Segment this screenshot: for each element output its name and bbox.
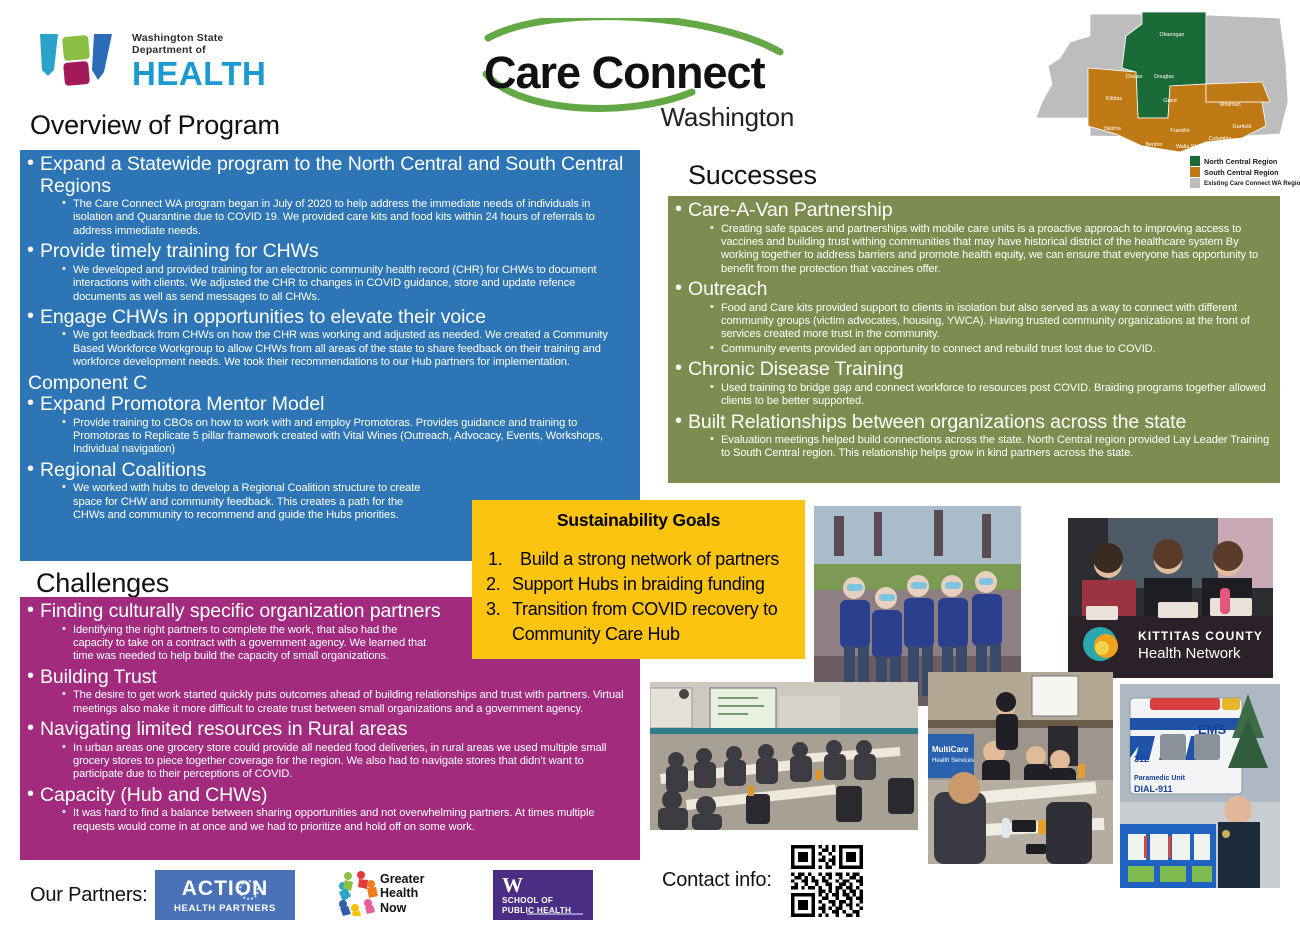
svg-text:Okanogan: Okanogan <box>1160 32 1185 38</box>
successes-item-1-sublist: Food and Care kits provided support to c… <box>688 302 1272 357</box>
wa-doh-logo: Washington State Department of HEALTH <box>36 30 286 92</box>
washington-state-region-map: Okanogan Chelan Douglas Grant Kittitas Y… <box>1030 6 1296 190</box>
greater-health-now-logo: GreaterHealthNow <box>335 868 445 920</box>
uw-logo-rule <box>527 913 583 915</box>
challenges-item-0-sub-0: Identifying the right partners to comple… <box>62 624 435 664</box>
overview-list: Expand a Statewide program to the North … <box>24 154 630 523</box>
svg-text:Garfield: Garfield <box>1233 124 1252 130</box>
svg-text:Health Services: Health Services <box>932 758 974 764</box>
svg-text:Chelan: Chelan <box>1125 74 1142 80</box>
svg-text:Franklin: Franklin <box>1170 128 1189 134</box>
legend-item-south-central: South Central Region <box>1190 167 1300 177</box>
action-logo-bottom: HEALTH PARTNERS <box>155 903 295 914</box>
successes-item-1-sub-0: Food and Care kits provided support to c… <box>710 302 1272 342</box>
photo-classroom-training <box>650 682 918 830</box>
successes-item-2-sub-0: Used training to bridge gap and connect … <box>710 382 1272 409</box>
successes-item-3-sub-0: Evaluation meetings helped build connect… <box>710 434 1272 461</box>
photo-classroom-training-image <box>650 682 918 830</box>
successes-item-1-title: Outreach <box>688 278 767 300</box>
challenges-item-1: Building Trust The desire to get work st… <box>24 667 630 716</box>
overview-item-0-title: Expand a Statewide program to the North … <box>40 153 623 197</box>
legend-item-existing-regions: Existing Care Connect WA Regions <box>1190 178 1300 188</box>
poster-canvas: Washington State Department of HEALTH Ca… <box>0 0 1300 932</box>
overview-item-0: Expand a Statewide program to the North … <box>24 154 630 238</box>
successes-item-2-sublist: Used training to bridge gap and connect … <box>688 382 1272 409</box>
successes-item-0-title: Care-A-Van Partnership <box>688 199 892 221</box>
svg-text:Benton: Benton <box>1145 142 1162 148</box>
svg-text:Columbia: Columbia <box>1209 136 1232 142</box>
uw-w-mark: W <box>502 873 523 898</box>
page-title-challenges: Challenges <box>36 568 169 599</box>
our-partners-label: Our Partners: <box>30 884 147 907</box>
challenges-item-2-sub-0: In urban areas one grocery store could p… <box>62 742 630 782</box>
action-logo-top: ACTION <box>155 877 295 901</box>
legend-label-north-central: North Central Region <box>1204 157 1277 166</box>
sustainability-goal-1: Build a strong network of partners <box>486 547 795 572</box>
doh-shield-icon <box>36 30 124 90</box>
photo-ems-outreach-image: EMS 312 Paramedic Unit DIAL-911 <box>1120 684 1280 888</box>
overview-item-1: Provide timely training for CHWs We deve… <box>24 241 630 304</box>
care-connect-subtitle: Washington <box>661 102 794 133</box>
successes-item-2-title: Chronic Disease Training <box>688 358 903 380</box>
map-graphic: Okanogan Chelan Douglas Grant Kittitas Y… <box>1030 6 1296 156</box>
sustainability-goals-title: Sustainability Goals <box>482 510 795 531</box>
overview-item-4-sub-0: Provide training to CBOs on how to work … <box>62 417 630 457</box>
challenges-item-2: Navigating limited resources in Rural ar… <box>24 719 630 782</box>
contact-info-label: Contact info: <box>662 869 772 892</box>
legend-label-existing-regions: Existing Care Connect WA Regions <box>1204 180 1300 187</box>
challenges-item-2-sublist: In urban areas one grocery store could p… <box>40 742 630 782</box>
photo-small-group-meeting: MultiCare Health Services <box>928 672 1113 864</box>
photo-ems-outreach: EMS 312 Paramedic Unit DIAL-911 <box>1120 684 1280 888</box>
overview-item-5-title: Regional Coalitions <box>40 459 206 481</box>
overview-item-2: Engage CHWs in opportunities to elevate … <box>24 307 630 370</box>
svg-text:DIAL-911: DIAL-911 <box>1134 784 1173 794</box>
uw-school-of-public-health-logo: W SCHOOL OFPUBLIC HEALTH <box>493 870 593 920</box>
legend-swatch-south-central <box>1190 167 1200 177</box>
overview-item-1-sublist: We developed and provided training for a… <box>40 264 630 304</box>
overview-item-1-title: Provide timely training for CHWs <box>40 240 319 262</box>
challenges-item-1-sublist: The desire to get work started quickly p… <box>40 689 630 716</box>
overview-item-4-title: Expand Promotora Mentor Model <box>40 393 324 415</box>
page-title-successes: Successes <box>688 160 817 191</box>
sustainability-goals-box: Sustainability Goals Build a strong netw… <box>472 500 805 659</box>
doh-logo-line1: Washington State Department of <box>132 32 286 56</box>
overview-item-4-sublist: Provide training to CBOs on how to work … <box>40 417 630 457</box>
successes-item-0-sub-0: Creating safe spaces and partnerships wi… <box>710 223 1272 277</box>
greater-health-now-people-icon <box>335 870 379 916</box>
successes-item-1: Outreach Food and Care kits provided sup… <box>672 279 1272 356</box>
action-logo-target-icon <box>239 880 259 900</box>
greater-health-now-text: GreaterHealthNow <box>380 872 424 915</box>
challenges-item-3: Capacity (Hub and CHWs) It was hard to f… <box>24 785 630 834</box>
overview-item-1-sub-0: We developed and provided training for a… <box>62 264 630 304</box>
overview-item-2-sub-0: We got feedback from CHWs on how the CHR… <box>62 329 630 369</box>
overview-item-5-sub-0: We worked with hubs to develop a Regiona… <box>62 482 430 522</box>
svg-text:MultiCare: MultiCare <box>932 745 969 754</box>
successes-item-0: Care-A-Van Partnership Creating safe spa… <box>672 200 1272 276</box>
svg-text:Douglas: Douglas <box>1154 74 1174 80</box>
successes-item-3-sublist: Evaluation meetings helped build connect… <box>688 434 1272 461</box>
challenges-item-3-sub-0: It was hard to find a balance between sh… <box>62 807 630 834</box>
overview-item-4: Expand Promotora Mentor Model Provide tr… <box>24 394 630 457</box>
svg-text:Whitman: Whitman <box>1219 102 1240 108</box>
challenges-item-3-title: Capacity (Hub and CHWs) <box>40 784 267 806</box>
challenges-item-1-sub-0: The desire to get work started quickly p… <box>62 689 630 716</box>
challenges-item-2-title: Navigating limited resources in Rural ar… <box>40 718 407 740</box>
svg-text:Paramedic Unit: Paramedic Unit <box>1134 775 1186 782</box>
svg-text:312: 312 <box>1134 754 1149 764</box>
svg-text:Kittitas: Kittitas <box>1106 96 1122 102</box>
svg-text:KITTITAS COUNTY: KITTITAS COUNTY <box>1138 629 1263 643</box>
overview-item-2-title: Engage CHWs in opportunities to elevate … <box>40 306 486 328</box>
legend-label-south-central: South Central Region <box>1204 168 1279 177</box>
svg-text:Grant: Grant <box>1163 98 1177 104</box>
successes-item-2: Chronic Disease Training Used training t… <box>672 359 1272 408</box>
page-title-overview: Overview of Program <box>30 110 280 141</box>
photo-kittitas-county-booth: KITTITAS COUNTY Health Network <box>1068 518 1273 678</box>
svg-text:Health Network: Health Network <box>1138 645 1241 662</box>
sustainability-goal-3: Transition from COVID recovery to Commun… <box>486 597 795 647</box>
legend-swatch-existing-regions <box>1190 178 1200 188</box>
care-connect-title: Care Connect <box>484 48 765 98</box>
sustainability-goal-2: Support Hubs in braiding funding <box>486 572 795 597</box>
challenges-item-1-title: Building Trust <box>40 666 157 688</box>
overview-item-0-sublist: The Care Connect WA program began in Jul… <box>40 198 630 238</box>
doh-logo-line2: HEALTH <box>132 57 286 91</box>
map-legend: North Central Region South Central Regio… <box>1190 156 1300 189</box>
overview-item-0-sub-0: The Care Connect WA program began in Jul… <box>62 198 630 238</box>
action-health-partners-logo: ACTION HEALTH PARTNERS <box>155 870 295 920</box>
care-connect-logo: Care Connect Washington <box>480 18 800 128</box>
panel-successes: Care-A-Van Partnership Creating safe spa… <box>668 196 1280 483</box>
successes-item-3: Built Relationships between organization… <box>672 412 1272 461</box>
challenges-item-3-sublist: It was hard to find a balance between sh… <box>40 807 630 834</box>
successes-item-1-sub-1: Community events provided an opportunity… <box>710 343 1272 356</box>
svg-text:Yakima: Yakima <box>1103 126 1121 132</box>
legend-swatch-north-central <box>1190 156 1200 166</box>
svg-text:Asotin: Asotin <box>1247 140 1262 146</box>
contact-qr-code[interactable] <box>791 845 863 917</box>
svg-text:Walla Walla: Walla Walla <box>1176 144 1204 150</box>
successes-item-3-title: Built Relationships between organization… <box>688 411 1186 433</box>
photo-small-group-meeting-image: MultiCare Health Services <box>928 672 1113 864</box>
doh-logo-text: Washington State Department of HEALTH <box>132 32 286 91</box>
photo-kittitas-county-booth-image: KITTITAS COUNTY Health Network <box>1068 518 1273 678</box>
successes-list: Care-A-Van Partnership Creating safe spa… <box>672 200 1272 461</box>
challenges-item-0-title: Finding culturally specific organization… <box>40 600 440 622</box>
overview-component-c-label: Component C <box>24 373 630 395</box>
sustainability-goals-list: Build a strong network of partners Suppo… <box>482 547 795 647</box>
legend-item-north-central: North Central Region <box>1190 156 1300 166</box>
successes-item-0-sublist: Creating safe spaces and partnerships wi… <box>688 223 1272 277</box>
overview-item-2-sublist: We got feedback from CHWs on how the CHR… <box>40 329 630 369</box>
